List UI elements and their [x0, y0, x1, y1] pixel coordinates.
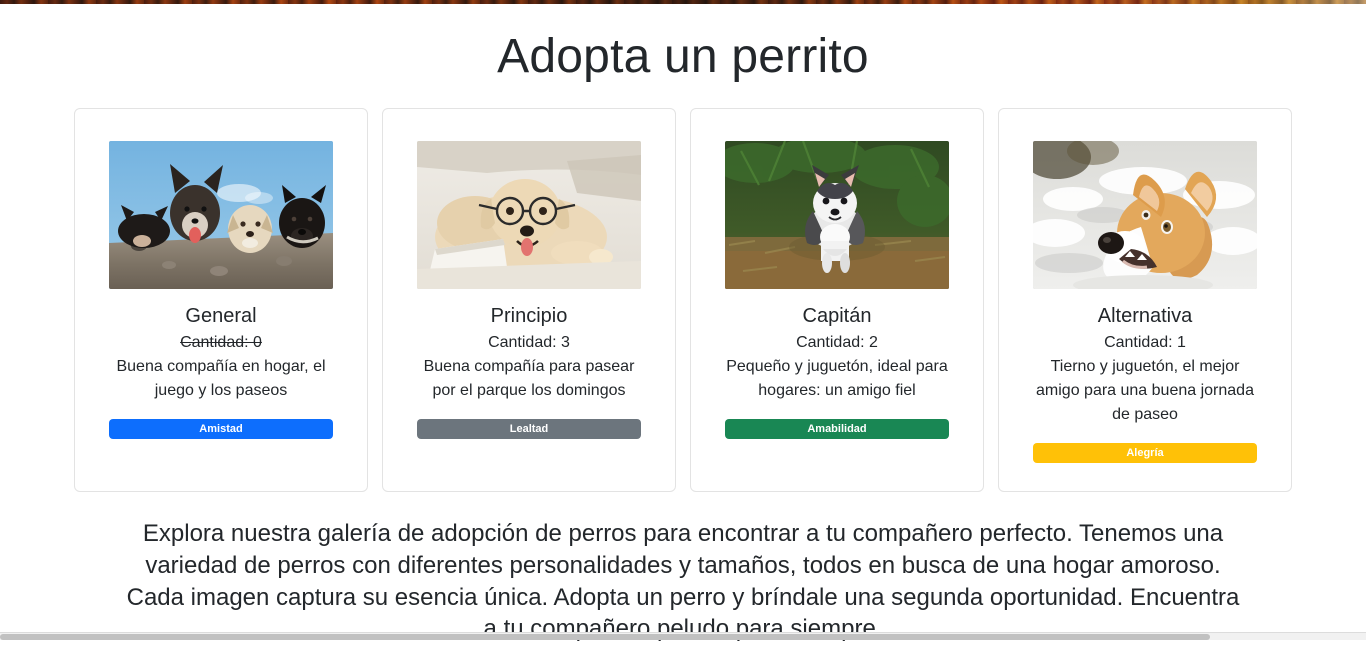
horizontal-scrollbar-thumb[interactable] [0, 634, 1210, 640]
dog-photo-general [109, 141, 333, 289]
dog-name: Capitán [803, 303, 872, 329]
horizontal-scrollbar[interactable] [0, 632, 1366, 640]
dog-quantity: Cantidad: 0 [180, 332, 262, 354]
dog-name: Principio [491, 303, 568, 329]
dog-description: Buena compañía para pasear por el parque… [417, 355, 641, 403]
page-title: Adopta un perrito [0, 4, 1366, 86]
dog-trait-button[interactable]: Lealtad [417, 419, 641, 439]
dog-photo-principio [417, 141, 641, 289]
dog-trait-button[interactable]: Amabilidad [725, 419, 949, 439]
dog-quantity: Cantidad: 2 [796, 332, 878, 354]
dog-name: Alternativa [1098, 303, 1193, 329]
dog-description: Pequeño y juguetón, ideal para hogares: … [725, 355, 949, 403]
dog-quantity: Cantidad: 3 [488, 332, 570, 354]
gallery-description-paragraph: Explora nuestra galería de adopción de p… [123, 518, 1243, 645]
dog-trait-button[interactable]: Amistad [109, 419, 333, 439]
dog-quantity: Cantidad: 1 [1104, 332, 1186, 354]
dog-card[interactable]: General Cantidad: 0 Buena compañía en ho… [74, 108, 368, 493]
dog-card[interactable]: Alternativa Cantidad: 1 Tierno y juguetó… [998, 108, 1292, 493]
page-container: Adopta un perrito [0, 4, 1366, 640]
dog-card[interactable]: Principio Cantidad: 3 Buena compañía par… [382, 108, 676, 493]
dog-trait-button[interactable]: Alegría [1033, 443, 1257, 463]
dog-card[interactable]: Capitán Cantidad: 2 Pequeño y juguetón, … [690, 108, 984, 493]
dog-description: Tierno y juguetón, el mejor amigo para u… [1033, 355, 1257, 427]
dog-cards-row: General Cantidad: 0 Buena compañía en ho… [0, 108, 1366, 493]
dog-description: Buena compañía en hogar, el juego y los … [109, 355, 333, 403]
dog-photo-capitan [725, 141, 949, 289]
dog-photo-alternativa [1033, 141, 1257, 289]
dog-name: General [185, 303, 256, 329]
